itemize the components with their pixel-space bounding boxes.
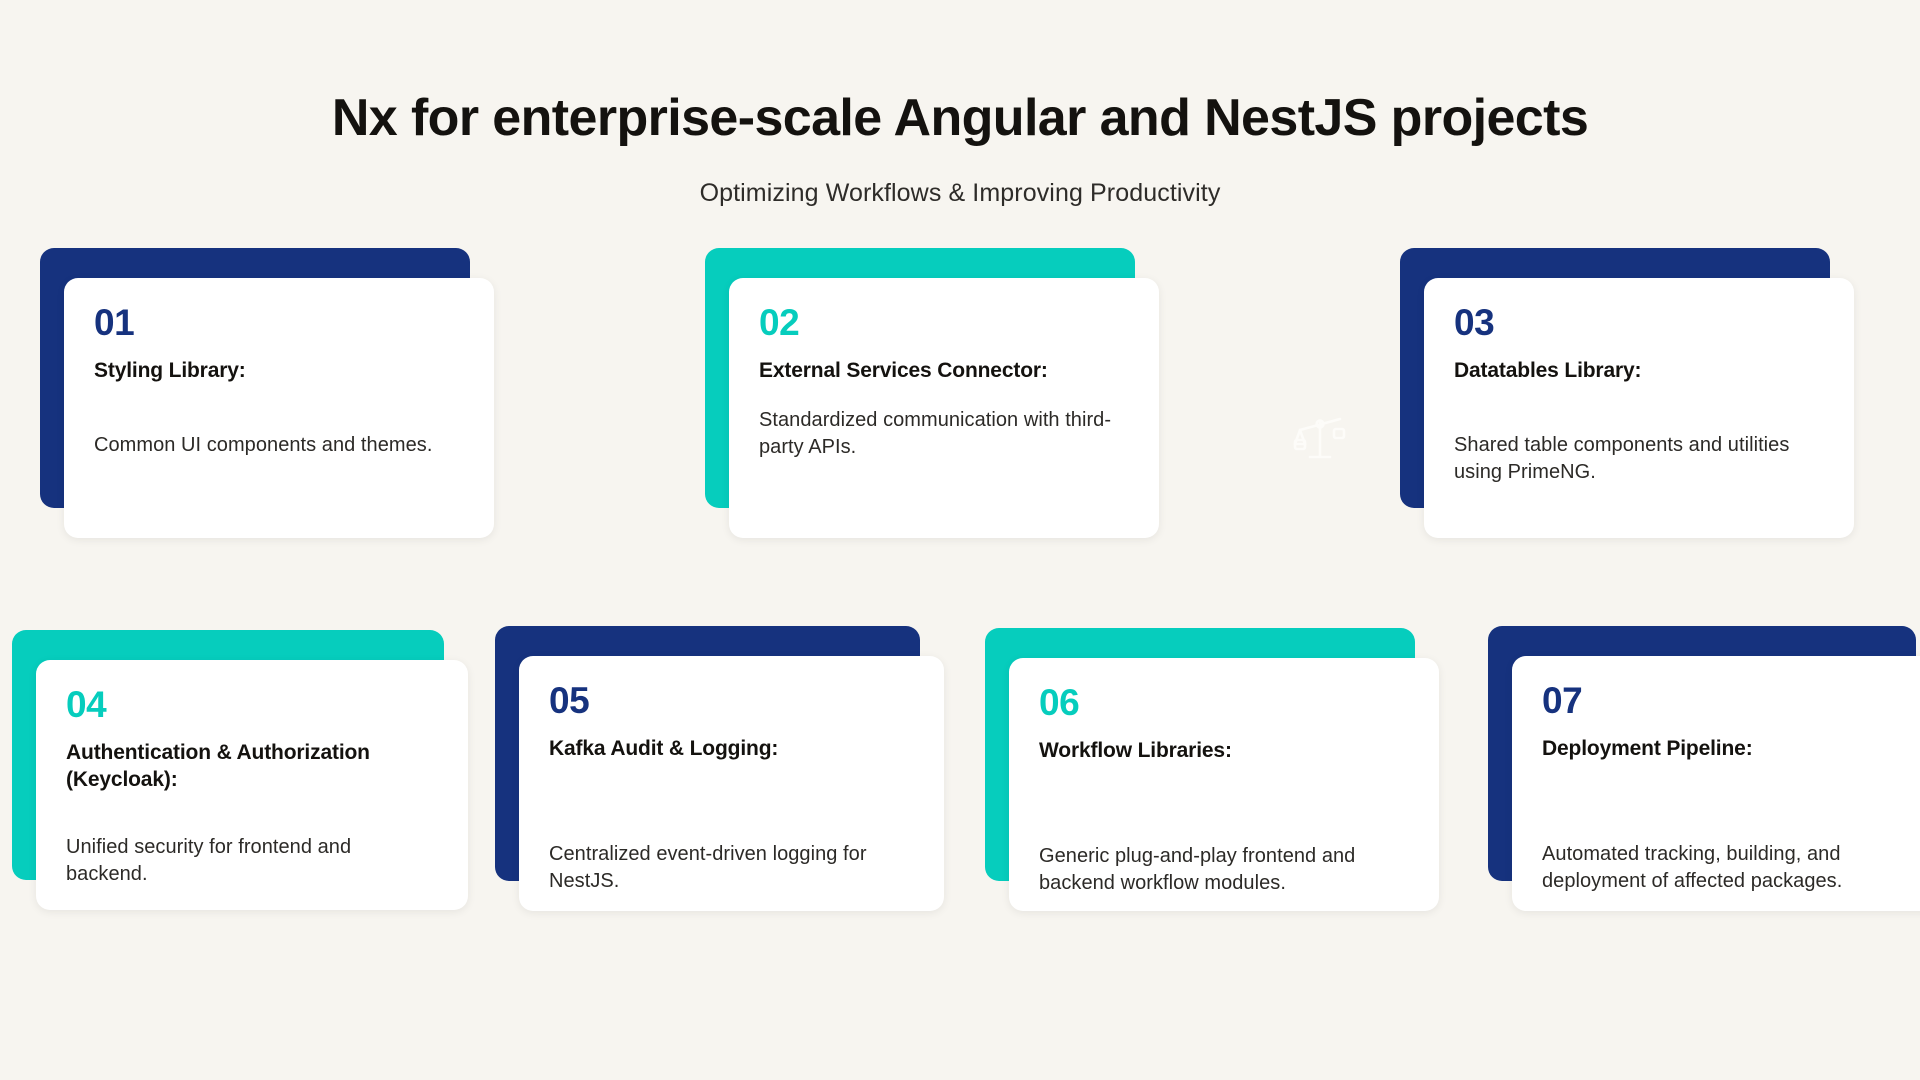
card-surface: 05 Kafka Audit & Logging: Centralized ev… xyxy=(519,656,944,911)
card-heading: Datatables Library: xyxy=(1454,358,1824,385)
card-number: 06 xyxy=(1039,684,1409,721)
feature-card-01[interactable]: 01 Styling Library: Common UI components… xyxy=(40,248,510,548)
card-description: Standardized communication with third-pa… xyxy=(759,407,1129,462)
card-surface: 04 Authentication & Authorization (Keycl… xyxy=(36,660,468,910)
card-heading: Styling Library: xyxy=(94,358,464,385)
card-surface: 02 External Services Connector: Standard… xyxy=(729,278,1159,538)
card-description: Unified security for frontend and backen… xyxy=(66,834,438,889)
slide-header: Nx for enterprise-scale Angular and Nest… xyxy=(0,0,1920,208)
card-heading: Deployment Pipeline: xyxy=(1542,736,1912,763)
card-number: 05 xyxy=(549,682,914,719)
feature-card-05[interactable]: 05 Kafka Audit & Logging: Centralized ev… xyxy=(495,626,945,911)
card-number: 02 xyxy=(759,304,1129,341)
card-heading: Kafka Audit & Logging: xyxy=(549,736,914,763)
page-subtitle: Optimizing Workflows & Improving Product… xyxy=(0,179,1920,208)
feature-card-07[interactable]: 07 Deployment Pipeline: Automated tracki… xyxy=(1488,626,1920,911)
feature-card-03[interactable]: 03 Datatables Library: Shared table comp… xyxy=(1400,248,1870,548)
card-description: Common UI components and themes. xyxy=(94,432,464,460)
feature-card-02[interactable]: 02 External Services Connector: Standard… xyxy=(705,248,1175,548)
card-number: 04 xyxy=(66,686,438,723)
feature-card-04[interactable]: 04 Authentication & Authorization (Keycl… xyxy=(12,630,472,910)
feature-card-06[interactable]: 06 Workflow Libraries: Generic plug-and-… xyxy=(985,628,1440,911)
card-description: Centralized event-driven logging for Nes… xyxy=(549,841,914,896)
card-surface: 07 Deployment Pipeline: Automated tracki… xyxy=(1512,656,1920,911)
card-description: Automated tracking, building, and deploy… xyxy=(1542,841,1912,896)
card-surface: 03 Datatables Library: Shared table comp… xyxy=(1424,278,1854,538)
card-number: 01 xyxy=(94,304,464,341)
balance-scale-icon xyxy=(1288,402,1352,466)
card-number: 07 xyxy=(1542,682,1912,719)
card-surface: 06 Workflow Libraries: Generic plug-and-… xyxy=(1009,658,1439,911)
card-heading: External Services Connector: xyxy=(759,358,1129,385)
page-title: Nx for enterprise-scale Angular and Nest… xyxy=(0,90,1920,147)
card-number: 03 xyxy=(1454,304,1824,341)
card-description: Shared table components and utilities us… xyxy=(1454,432,1824,487)
card-heading: Authentication & Authorization (Keycloak… xyxy=(66,740,438,794)
card-description: Generic plug-and-play frontend and backe… xyxy=(1039,843,1409,898)
card-heading: Workflow Libraries: xyxy=(1039,738,1409,765)
card-surface: 01 Styling Library: Common UI components… xyxy=(64,278,494,538)
